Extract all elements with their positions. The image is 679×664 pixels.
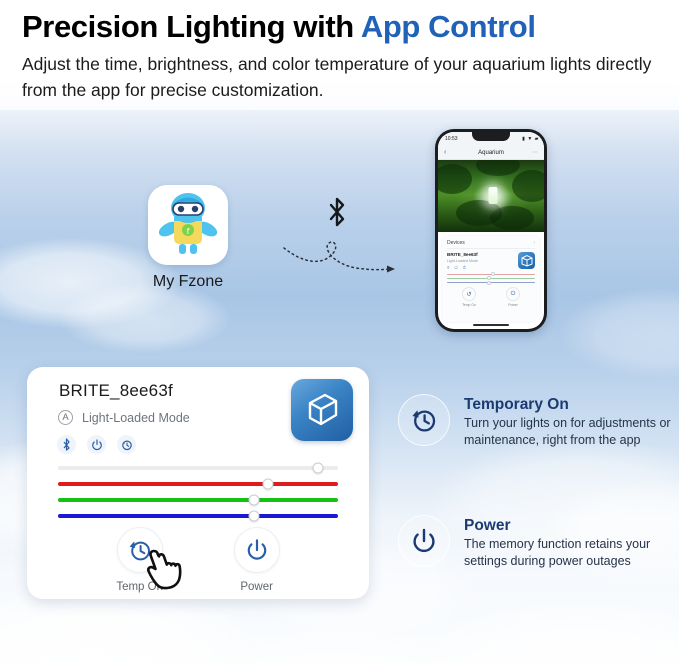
phone-navbar: ‹ Aquarium ⋯ [438,146,544,160]
page-subtitle: Adjust the time, brightness, and color t… [22,51,672,103]
page-title: Precision Lighting with App Control [22,9,536,45]
green-channel-slider[interactable] [58,498,338,502]
promo-page: Precision Lighting with App Control Adju… [0,0,679,664]
red-slider-knob[interactable] [263,479,274,490]
auto-mode-badge: A [58,410,73,425]
callout-body: Temporary On Turn your lights on for adj… [464,394,679,448]
bluetooth-icon[interactable] [57,435,76,454]
temp-on-button[interactable]: Temp On [116,527,163,593]
blue-channel-slider[interactable] [58,514,338,518]
phone-temp-on-label: Temp On [462,303,476,307]
power-icon [398,515,450,567]
channel-sliders [58,466,338,530]
phone-green-slider[interactable] [447,278,535,280]
devices-text: Devices [447,240,465,246]
brightness-slider-knob[interactable] [313,463,324,474]
dotted-curved-arrow-icon [282,230,402,285]
device-mode-label: Light-Loaded Mode [82,411,190,425]
fzone-mascot-svg: f [148,185,228,265]
phone-power-button[interactable]: ⏻ Power [506,287,520,307]
home-indicator [473,324,509,326]
callout-description: The memory function retains your setting… [464,536,679,569]
more-icon[interactable]: ⋯ [532,149,538,156]
phone-devices-label: Devices › [447,240,535,249]
phone-device-card: Devices › BRITE_8ee63f Light-Loaded Mode… [442,236,540,322]
device-control-card: BRITE_8ee63f A Light-Loaded Mode [27,367,369,599]
clock-rewind-icon [398,394,450,446]
phone-screen: 10:53 ▮ ▼ ▰ ‹ Aquarium ⋯ Devices › [438,132,544,329]
device-mode-row: A Light-Loaded Mode [58,410,190,425]
phone-notch [472,132,510,141]
fzone-mascot-icon[interactable]: f [148,185,228,265]
svg-text:f: f [187,227,190,236]
app-icon-block: f My Fzone [148,185,228,265]
aquarium-photo [438,160,544,232]
callout-body: Power The memory function retains your s… [464,515,679,569]
phone-temp-on-button[interactable]: ↺ Temp On [462,287,476,307]
phone-nav-title: Aquarium [438,150,544,156]
card-action-buttons: Temp On Power [27,527,369,593]
power-icon [234,527,280,573]
phone-power-label: Power [506,303,520,307]
phone-sliders [447,274,535,284]
aquarium-lamp-glow [489,187,498,204]
hand-pointer-cursor [144,545,186,596]
device-name: BRITE_8ee63f [59,381,173,401]
app-name-label: My Fzone [126,273,250,291]
phone-blue-slider[interactable] [447,282,535,284]
power-button[interactable]: Power [234,527,280,593]
power-label: Power [234,581,280,593]
device-mini-icon-row [57,435,136,454]
status-time: 10:53 [445,136,458,142]
callout-title: Temporary On [464,396,679,414]
power-icon[interactable] [87,435,106,454]
callout-title: Power [464,517,679,535]
phone-mockup: 10:53 ▮ ▼ ▰ ‹ Aquarium ⋯ Devices › [435,129,547,332]
callout-power: Power The memory function retains your s… [398,515,679,569]
brite-cube-logo [291,379,353,441]
clock-rewind-icon: ↺ [462,287,476,301]
phone-brite-cube-logo [518,252,535,269]
headline-black-part: Precision Lighting with [22,9,361,44]
timer-icon[interactable] [117,435,136,454]
phone-red-slider[interactable] [447,274,535,276]
green-slider-knob[interactable] [249,495,260,506]
callout-description: Turn your lights on for adjustments or m… [464,415,679,448]
header-band: Precision Lighting with App Control Adju… [0,0,679,110]
headline-accent-part: App Control [361,9,536,44]
chevron-right-icon[interactable]: › [533,240,535,246]
blue-slider-knob[interactable] [249,511,260,522]
phone-action-buttons: ↺ Temp On ⏻ Power [447,287,535,307]
status-icons: ▮ ▼ ▰ [522,136,539,142]
bluetooth-icon [325,196,349,233]
brightness-slider[interactable] [58,466,338,470]
power-icon: ⏻ [506,287,520,301]
red-channel-slider[interactable] [58,482,338,486]
callout-temporary-on: Temporary On Turn your lights on for adj… [398,394,679,448]
